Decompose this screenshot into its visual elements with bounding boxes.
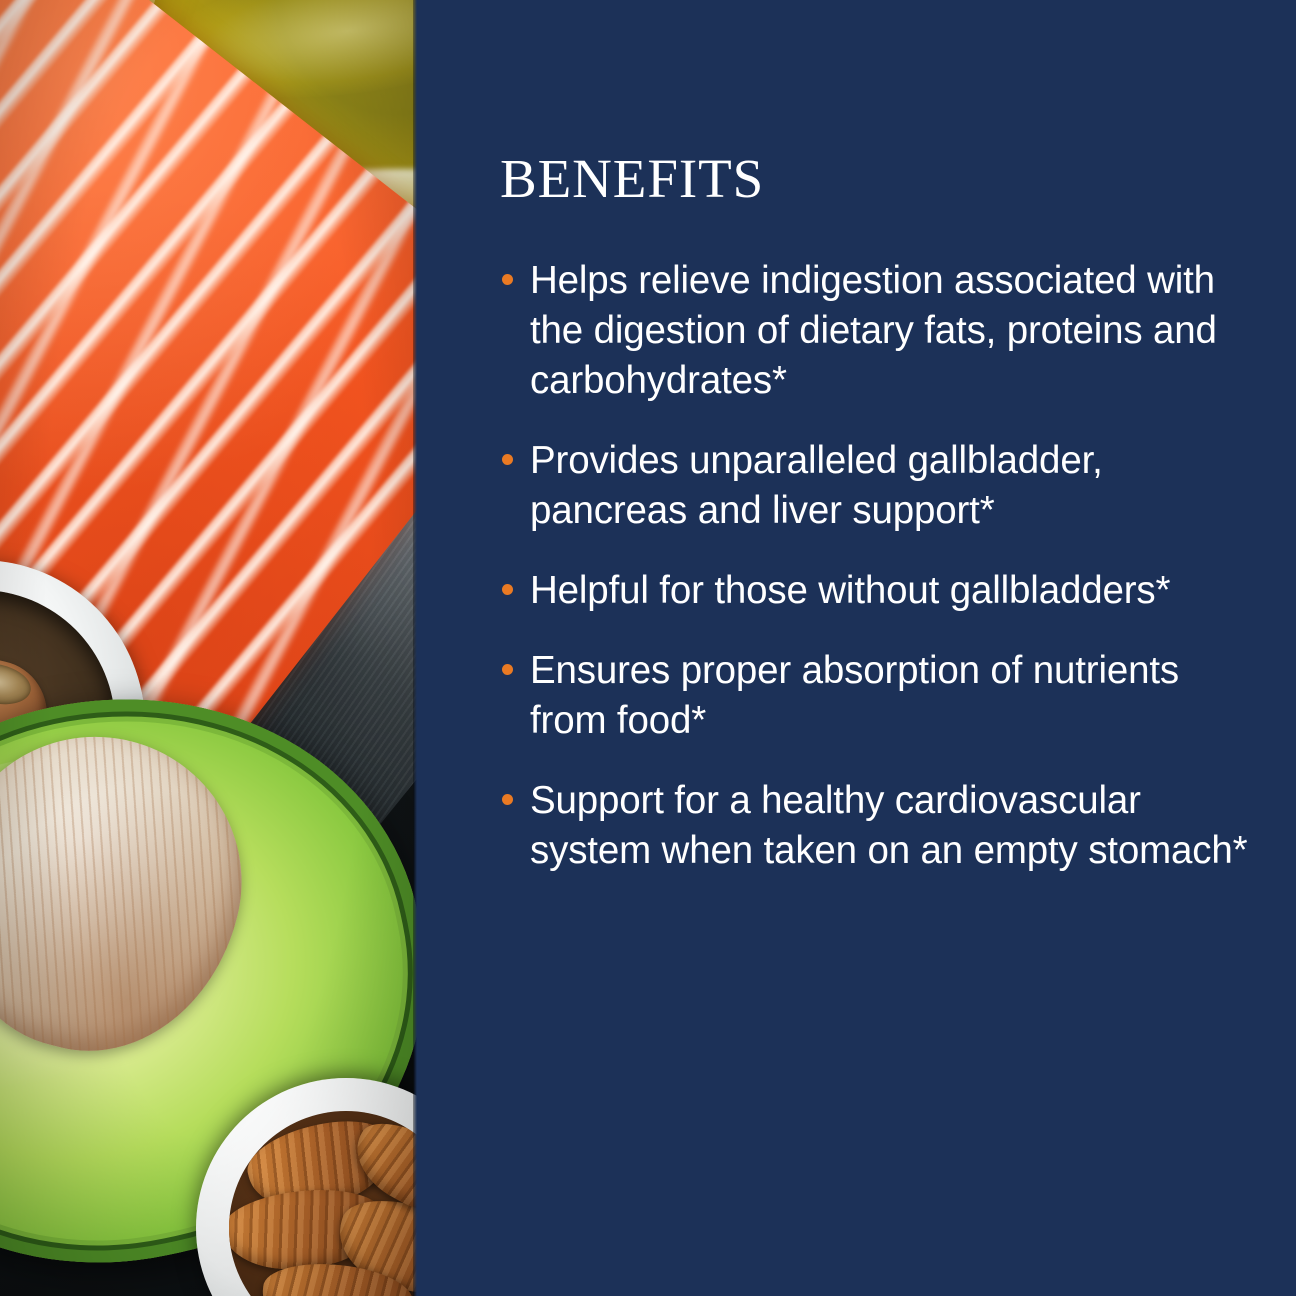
benefits-list: Helps relieve indigestion associated wit… (500, 256, 1270, 876)
benefit-text: Helps relieve indigestion associated wit… (530, 259, 1217, 402)
bullet-dot-icon (502, 584, 513, 595)
benefit-text: Provides unparalleled gallbladder, pancr… (530, 439, 1103, 532)
bullet-dot-icon (502, 454, 513, 465)
benefit-text: Helpful for those without gallbladders* (530, 569, 1170, 612)
benefit-list-item: Ensures proper absorption of nutrients f… (500, 646, 1260, 746)
food-photo-panel (0, 0, 417, 1296)
benefits-text-panel: Benefits Helps relieve indigestion assoc… (417, 0, 1296, 1296)
benefit-text: Support for a healthy cardiovascular sys… (530, 779, 1247, 872)
benefit-list-item: Helps relieve indigestion associated wit… (500, 256, 1260, 406)
benefit-list-item: Support for a healthy cardiovascular sys… (500, 776, 1260, 876)
page-title: Benefits (500, 132, 1270, 210)
pecan-bowl-interior (229, 1111, 417, 1296)
hazelnut-cap (0, 658, 34, 710)
benefits-slide: Benefits Helps relieve indigestion assoc… (0, 0, 1296, 1296)
benefit-list-item: Provides unparalleled gallbladder, pancr… (500, 436, 1260, 536)
benefit-text: Ensures proper absorption of nutrients f… (530, 649, 1179, 742)
bullet-dot-icon (502, 794, 513, 805)
benefit-list-item: Helpful for those without gallbladders* (500, 566, 1260, 616)
bullet-dot-icon (502, 664, 513, 675)
bullet-dot-icon (502, 274, 513, 285)
